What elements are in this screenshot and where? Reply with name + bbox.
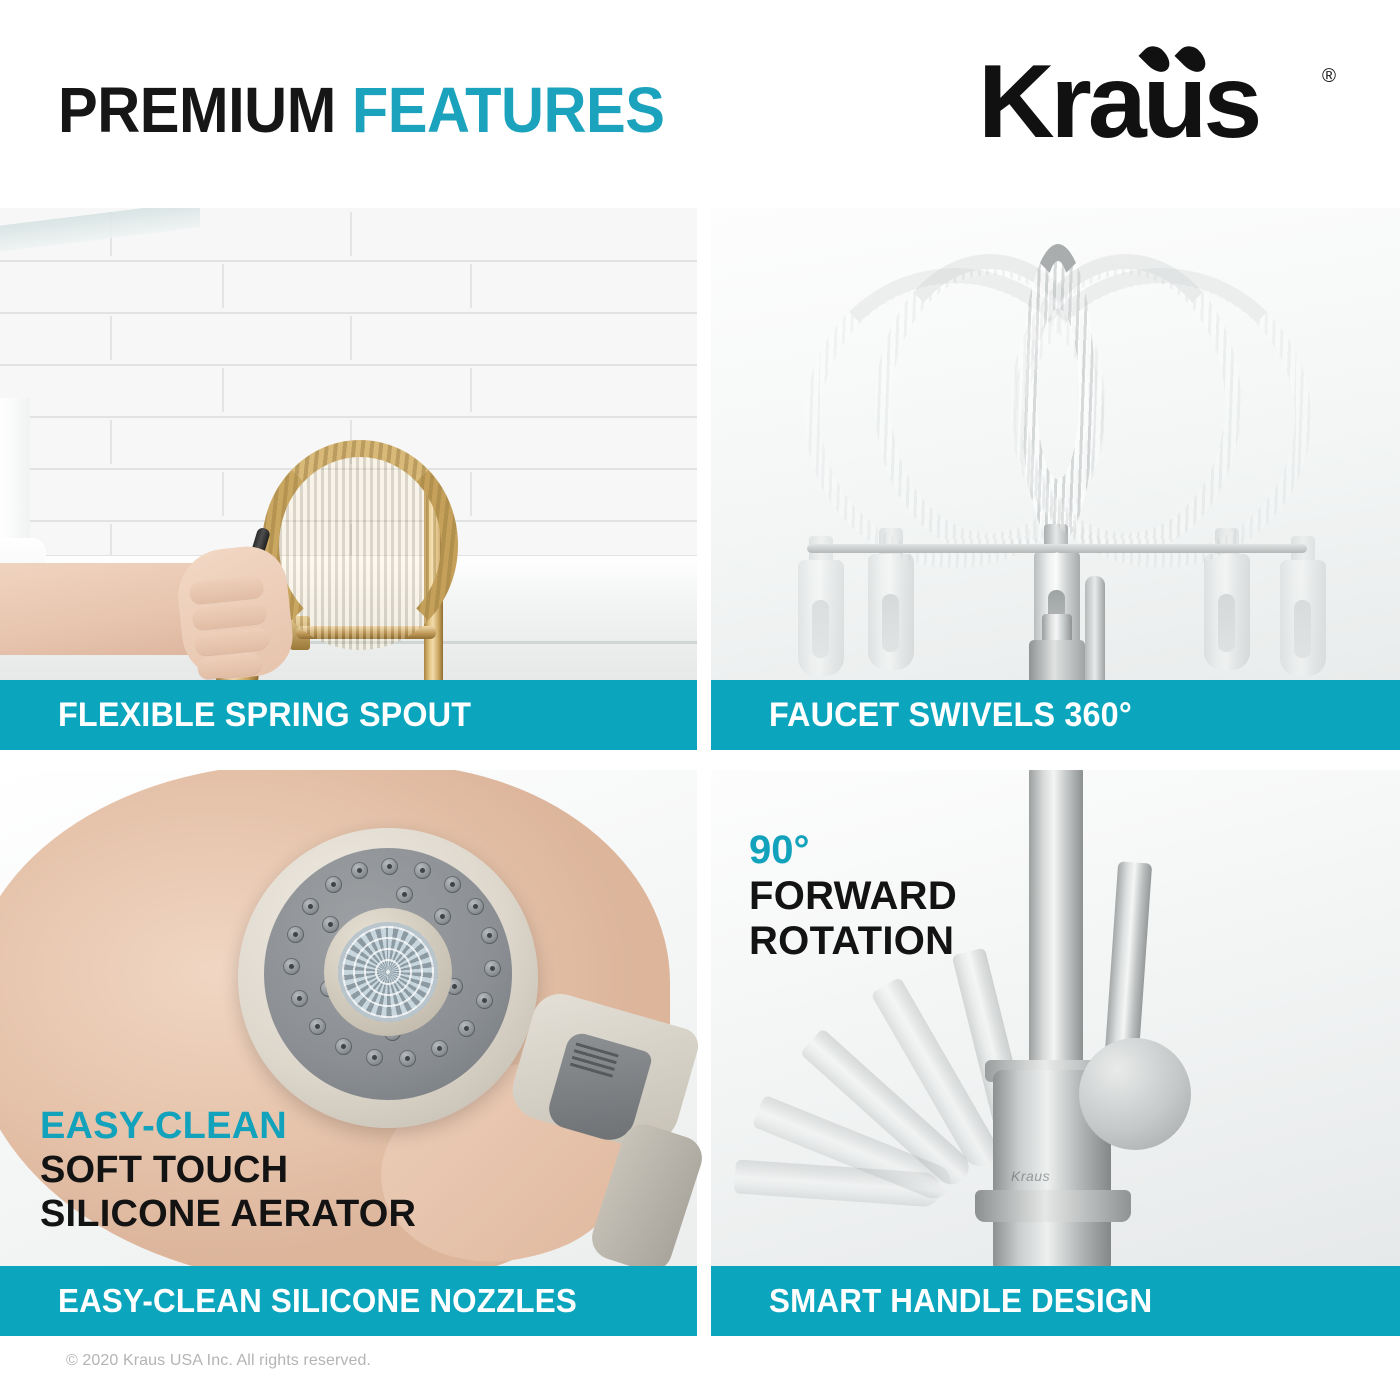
overlay-line-2: SOFT TOUCH <box>40 1148 416 1192</box>
overlay-line-3: ROTATION <box>749 919 957 965</box>
registered-trademark-icon: ® <box>1322 66 1336 88</box>
silicone-nozzle <box>467 898 484 915</box>
silicone-nozzle <box>291 990 308 1007</box>
caption-smart-handle-design: SMART HANDLE DESIGN <box>711 1266 1400 1336</box>
faucet-side-arm <box>1085 576 1105 680</box>
page-title: PREMIUM FEATURES <box>58 78 665 142</box>
silicone-nozzle <box>283 958 300 975</box>
brand-engraving: Kraus <box>1011 1168 1050 1184</box>
silicone-nozzle <box>431 1040 448 1057</box>
finger <box>189 575 265 605</box>
aerator-screen <box>338 922 438 1022</box>
silicone-nozzle <box>322 916 339 933</box>
caption-label: FAUCET SWIVELS 360° <box>769 696 1132 735</box>
infographic-page: PREMIUM FEATURES Kraus ® <box>0 0 1400 1400</box>
finger <box>194 627 270 657</box>
caption-faucet-swivels-360: FAUCET SWIVELS 360° <box>711 680 1400 750</box>
silicone-nozzle <box>414 862 431 879</box>
silicone-nozzle <box>366 1049 383 1066</box>
header: PREMIUM FEATURES Kraus ® <box>0 0 1400 208</box>
swivel-positions <box>711 208 1400 680</box>
finger <box>191 601 267 631</box>
overlay-accent-line: EASY-CLEAN <box>40 1104 416 1148</box>
silicone-nozzle <box>484 960 501 977</box>
faucet-valve-body <box>1029 640 1085 680</box>
silicone-nozzle <box>481 927 498 944</box>
silicone-nozzle <box>444 876 461 893</box>
overlay-accent-line: 90° <box>749 828 957 874</box>
overlay-line-3: SILICONE AERATOR <box>40 1192 416 1236</box>
caption-easy-clean-silicone-nozzles: EASY-CLEAN SILICONE NOZZLES <box>0 1266 697 1336</box>
handle-knob[interactable] <box>1079 1038 1191 1150</box>
overlay-forward-rotation: 90° FORWARD ROTATION <box>749 828 957 965</box>
silicone-nozzle <box>325 876 342 893</box>
caption-label: SMART HANDLE DESIGN <box>769 1282 1152 1320</box>
brand-logo: Kraus ® <box>978 42 1338 160</box>
overlay-easy-clean: EASY-CLEAN SOFT TOUCH SILICONE AERATOR <box>40 1104 416 1236</box>
silicone-nozzle <box>335 1038 352 1055</box>
finger <box>197 652 263 680</box>
overlay-line-2: FORWARD <box>749 874 957 920</box>
swivel-arm <box>807 544 1059 553</box>
silicone-aerator-head <box>238 828 538 1128</box>
faucet-base-plate <box>975 1190 1131 1222</box>
page-title-accent: FEATURES <box>352 74 665 146</box>
brand-logo-wordmark: Kraus <box>978 50 1258 154</box>
caption-label: FLEXIBLE SPRING SPOUT <box>58 696 471 735</box>
silicone-nozzle <box>399 1050 416 1067</box>
panel-flexible-spring-spout <box>0 208 697 680</box>
silicone-nozzle <box>302 898 319 915</box>
faucet-spout-column <box>1029 770 1083 1076</box>
silicone-nozzle <box>434 908 451 925</box>
silicone-nozzle <box>351 862 368 879</box>
silicone-nozzle <box>476 992 493 1009</box>
silicone-nozzle <box>381 858 398 875</box>
silicone-nozzle <box>309 1018 326 1035</box>
silicone-nozzle <box>287 926 304 943</box>
silicone-nozzle <box>396 886 413 903</box>
silicone-nozzle <box>458 1020 475 1037</box>
caption-label: EASY-CLEAN SILICONE NOZZLES <box>58 1282 577 1320</box>
panel-smart-handle-design: 90° FORWARD ROTATION Kraus <box>711 770 1400 1266</box>
page-title-dark: PREMIUM <box>58 74 336 146</box>
panel-faucet-swivels-360 <box>711 208 1400 680</box>
copyright-notice: © 2020 Kraus USA Inc. All rights reserve… <box>66 1352 371 1370</box>
caption-flexible-spring-spout: FLEXIBLE SPRING SPOUT <box>0 680 697 750</box>
hand <box>174 543 297 680</box>
spring-spout-coils <box>262 440 458 650</box>
swivel-arm <box>1055 544 1307 553</box>
